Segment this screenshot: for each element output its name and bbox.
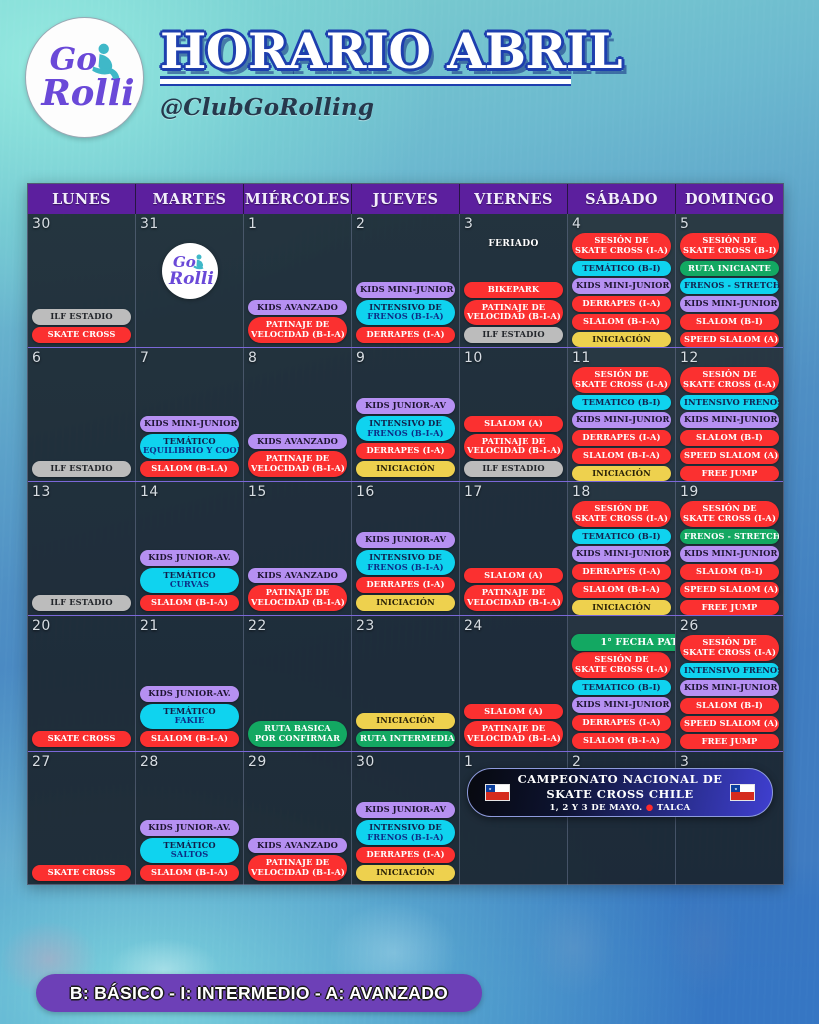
activity-pill[interactable]: PATINAJE DEVELOCIDAD (B-I-A) bbox=[248, 451, 347, 477]
activity-pill[interactable]: SLALOM (A) bbox=[464, 704, 563, 720]
activity-pill[interactable]: SLALOM (A) bbox=[464, 416, 563, 432]
activity-pill-line2: VELOCIDAD (B-I-A) bbox=[467, 446, 560, 456]
calendar-week-1: 30ILF ESTADIOSKATE CROSS31GoRolling1KIDS… bbox=[28, 214, 783, 348]
activity-pill-line2: VELOCIDAD (B-I-A) bbox=[251, 598, 344, 608]
activity-pill[interactable]: ILF ESTADIO bbox=[32, 309, 131, 325]
legend-text: B: BÁSICO - I: INTERMEDIO - A: AVANZADO bbox=[70, 983, 448, 1004]
calendar-week-3: 13ILF ESTADIO14KIDS JUNIOR-AV.TEMÁTICOCU… bbox=[28, 482, 783, 616]
activity-pill-line2: VELOCIDAD (B-I-A) bbox=[251, 868, 344, 878]
activity-pill-line2: POR CONFIRMAR bbox=[251, 734, 344, 744]
activity-pill[interactable]: ILF ESTADIO bbox=[32, 461, 131, 477]
activity-pill-line2: FAKIE bbox=[143, 716, 236, 726]
activity-pill[interactable]: KIDS JUNIOR-AV bbox=[356, 532, 455, 548]
location-pin-icon: ● bbox=[646, 803, 654, 813]
activity-pill[interactable]: RUTA INTERMEDIA bbox=[356, 731, 455, 747]
activity-pill[interactable]: INTENSIVO DEFRENOS (B-I-A) bbox=[356, 550, 455, 576]
chile-flag-icon-left bbox=[485, 784, 510, 801]
activity-pill[interactable]: DERRAPES (I-A) bbox=[572, 564, 671, 580]
activity-pill[interactable]: RUTA INICIANTE bbox=[680, 261, 779, 277]
day-activity-list: ILF ESTADIOSKATE CROSS bbox=[32, 309, 131, 343]
day-activity-list: BIKEPARKPATINAJE DEVELOCIDAD (B-I-A)ILF … bbox=[464, 282, 563, 343]
calendar-day-cell[interactable]: 11SESIÓN DESKATE CROSS (I-A)TEMATICO (B-… bbox=[568, 348, 676, 481]
day-number: 1 bbox=[248, 217, 257, 231]
activity-pill[interactable]: SLALOM (B-I-A) bbox=[572, 448, 671, 464]
championship-text: CAMPEONATO NACIONAL DE SKATE CROSS CHILE… bbox=[518, 772, 723, 812]
calendar-day-cell[interactable]: 29KIDS AVANZADOPATINAJE DEVELOCIDAD (B-I… bbox=[244, 752, 352, 885]
activity-pill[interactable]: SESIÓN DESKATE CROSS (I-A) bbox=[680, 501, 779, 527]
day-number: 26 bbox=[680, 619, 699, 633]
activity-pill[interactable]: SLALOM (B-I-A) bbox=[572, 733, 671, 749]
day-number: 18 bbox=[572, 485, 591, 499]
activity-pill[interactable]: KIDS MINI-JUNIOR bbox=[680, 296, 779, 312]
activity-pill[interactable]: KIDS MINI-JUNIOR bbox=[680, 680, 779, 696]
activity-pill[interactable]: KIDS MINI-JUNIOR bbox=[140, 416, 239, 432]
svg-text:Go: Go bbox=[173, 253, 196, 271]
activity-pill[interactable]: SESIÓN DESKATE CROSS (I-A) bbox=[572, 501, 671, 527]
activity-pill[interactable]: TEMÁTICOSALTOS bbox=[140, 838, 239, 864]
activity-pill-line2: VELOCIDAD (B-I-A) bbox=[467, 312, 560, 322]
activity-pill[interactable]: FRENOS - STRETCHING bbox=[680, 278, 779, 294]
day-number: 19 bbox=[680, 485, 699, 499]
activity-pill[interactable]: KIDS JUNIOR-AV bbox=[356, 802, 455, 818]
day-activity-list: SESIÓN DESKATE CROSS (I-A)TEMÁTICO (B-I)… bbox=[572, 233, 671, 347]
day-activity-list: SESIÓN DESKATE CROSS (I-A)FRENOS - STRET… bbox=[680, 501, 779, 615]
day-number: 8 bbox=[248, 351, 257, 365]
day-activity-list: INICIACIÓNRUTA INTERMEDIA bbox=[356, 713, 455, 747]
day-activity-list: SLALOM (A)PATINAJE DEVELOCIDAD (B-I-A)IL… bbox=[464, 416, 563, 477]
day-number: 2 bbox=[356, 217, 365, 231]
day-number: 3 bbox=[680, 755, 689, 769]
svg-text:Rolling: Rolling bbox=[168, 269, 215, 289]
day-number: 23 bbox=[356, 619, 375, 633]
activity-pill-line2: SKATE CROSS (B-I) bbox=[683, 246, 776, 256]
activity-pill[interactable]: ILF ESTADIO bbox=[32, 595, 131, 611]
day-header-1: LUNES bbox=[28, 184, 136, 214]
day-header-4: JUEVES bbox=[352, 184, 460, 214]
activity-pill[interactable]: SLALOM (B-I-A) bbox=[140, 865, 239, 881]
activity-pill[interactable]: DERRAPES (I-A) bbox=[356, 327, 455, 343]
activity-pill[interactable]: INICIACIÓN bbox=[356, 713, 455, 729]
activity-pill[interactable]: INTENSIVO DEFRENOS (B-I-A) bbox=[356, 416, 455, 442]
activity-pill[interactable]: SLALOM (B-I-A) bbox=[572, 314, 671, 330]
activity-pill[interactable]: INICIACIÓN bbox=[572, 332, 671, 347]
activity-pill[interactable]: INTENSIVO DEFRENOS (B-I-A) bbox=[356, 300, 455, 326]
activity-pill[interactable]: SPEED SLALOM (A) bbox=[680, 448, 779, 464]
activity-pill[interactable]: ILF ESTADIO bbox=[464, 327, 563, 343]
activity-pill-line2: SKATE CROSS (I-A) bbox=[575, 514, 668, 524]
activity-pill[interactable]: SESIÓN DESKATE CROSS (I-A) bbox=[572, 652, 671, 678]
day-activity-list: KIDS JUNIOR-AVINTENSIVO DEFRENOS (B-I-A)… bbox=[356, 398, 455, 477]
calendar-day-cell[interactable]: 251° FECHA PATIN CARRERASESIÓN DESKATE C… bbox=[568, 616, 676, 751]
activity-pill[interactable]: PATINAJE DEVELOCIDAD (B-I-A) bbox=[464, 434, 563, 460]
activity-pill-line2: SKATE CROSS (I-A) bbox=[683, 648, 776, 658]
activity-pill-line2: VELOCIDAD (B-I-A) bbox=[467, 734, 560, 744]
calendar-day-cell[interactable]: 5SESIÓN DESKATE CROSS (B-I)RUTA INICIANT… bbox=[676, 214, 783, 347]
day-activity-list: KIDS JUNIOR-AV.TEMÁTICOFAKIESLALOM (B-I-… bbox=[140, 686, 239, 747]
activity-pill[interactable]: DERRAPES (I-A) bbox=[572, 430, 671, 446]
calendar-day-cell[interactable]: 26SESIÓN DESKATE CROSS (I-A)INTENSIVO FR… bbox=[676, 616, 783, 751]
activity-pill[interactable]: PATINAJE DEVELOCIDAD (B-I-A) bbox=[248, 317, 347, 343]
activity-pill-line2: SKATE CROSS (I-A) bbox=[575, 246, 668, 256]
activity-pill[interactable]: TEMATICO (B-I) bbox=[572, 395, 671, 411]
activity-pill[interactable]: INTENSIVO FRENOS bbox=[680, 395, 779, 411]
title-block: HORARIO ABRIL @ClubGoRolling bbox=[160, 27, 622, 121]
activity-pill[interactable]: SLALOM (A) bbox=[464, 568, 563, 584]
day-number: 11 bbox=[572, 351, 591, 365]
activity-pill[interactable]: KIDS AVANZADO bbox=[248, 300, 347, 316]
day-number: 1 bbox=[464, 755, 473, 769]
activity-pill[interactable]: SPEED SLALOM (A) bbox=[680, 332, 779, 347]
activity-pill[interactable]: SESIÓN DESKATE CROSS (I-A) bbox=[572, 233, 671, 259]
championship-line1: CAMPEONATO NACIONAL DE bbox=[518, 772, 723, 786]
day-number: 29 bbox=[248, 755, 267, 769]
day-activity-list: RUTA BASICAPOR CONFIRMAR bbox=[248, 721, 347, 747]
activity-pill[interactable]: BIKEPARK bbox=[464, 282, 563, 298]
activity-pill[interactable]: SESIÓN DESKATE CROSS (I-A) bbox=[680, 367, 779, 393]
championship-dates: 1, 2 Y 3 DE MAYO. bbox=[549, 803, 642, 813]
activity-pill[interactable]: SESIÓN DESKATE CROSS (I-A) bbox=[680, 635, 779, 661]
go-rolling-logo-icon: Go Rolling bbox=[33, 26, 137, 130]
calendar-week-2: 6ILF ESTADIO7KIDS MINI-JUNIORTEMÁTICOEQU… bbox=[28, 348, 783, 482]
activity-pill[interactable]: FREE JUMP bbox=[680, 734, 779, 750]
activity-pill[interactable]: SLALOM (B-I-A) bbox=[140, 731, 239, 747]
holiday-note: FERIADO bbox=[464, 239, 563, 249]
day-number: 17 bbox=[464, 485, 483, 499]
day-activity-list: KIDS AVANZADOPATINAJE DEVELOCIDAD (B-I-A… bbox=[248, 838, 347, 881]
activity-pill[interactable]: SLALOM (B-I) bbox=[680, 430, 779, 446]
day-number: 21 bbox=[140, 619, 159, 633]
day-activity-list: SLALOM (A)PATINAJE DEVELOCIDAD (B-I-A) bbox=[464, 568, 563, 611]
activity-pill[interactable]: KIDS AVANZADO bbox=[248, 568, 347, 584]
day-number: 4 bbox=[572, 217, 581, 231]
go-rolling-logo: Go Rolling bbox=[25, 17, 144, 138]
social-handle: @ClubGoRolling bbox=[160, 94, 622, 121]
activity-pill[interactable]: SPEED SLALOM (A) bbox=[680, 582, 779, 598]
activity-pill[interactable]: SLALOM (B-I) bbox=[680, 564, 779, 580]
day-header-5: VIERNES bbox=[460, 184, 568, 214]
go-rolling-logo-icon: GoRolling bbox=[162, 243, 218, 299]
activity-pill[interactable]: PATINAJE DEVELOCIDAD (B-I-A) bbox=[464, 721, 563, 747]
activity-pill[interactable]: KIDS MINI-JUNIOR bbox=[572, 697, 671, 713]
activity-pill[interactable]: PATINAJE DEVELOCIDAD (B-I-A) bbox=[464, 585, 563, 611]
activity-pill-line2: SKATE CROSS (I-A) bbox=[575, 380, 668, 390]
activity-pill[interactable]: KIDS MINI-JUNIOR bbox=[680, 412, 779, 428]
activity-pill-line2: FRENOS (B-I-A) bbox=[359, 312, 452, 322]
activity-pill-line2: FRENOS (B-I-A) bbox=[359, 563, 452, 573]
day-activity-list: KIDS JUNIOR-AV.TEMÁTICOSALTOSSLALOM (B-I… bbox=[140, 820, 239, 881]
activity-pill[interactable]: DERRAPES (I-A) bbox=[572, 296, 671, 312]
calendar-day-cell[interactable]: 2KIDS MINI-JUNIORINTENSIVO DEFRENOS (B-I… bbox=[352, 214, 460, 347]
day-number: 30 bbox=[32, 217, 51, 231]
activity-pill[interactable]: SESIÓN DESKATE CROSS (B-I) bbox=[680, 233, 779, 259]
day-activity-list: SESIÓN DESKATE CROSS (I-A)INTENSIVO FREN… bbox=[680, 367, 779, 481]
activity-pill-line2: EQUILIBRIO Y COORD. bbox=[143, 446, 236, 456]
day-banner-event[interactable]: 1° FECHA PATIN CARRERA bbox=[571, 634, 676, 651]
activity-pill[interactable]: TEMATICO (B-I) bbox=[572, 529, 671, 545]
activity-pill[interactable]: KIDS AVANZADO bbox=[248, 838, 347, 854]
day-activity-list: SESIÓN DESKATE CROSS (B-I)RUTA INICIANTE… bbox=[680, 233, 779, 347]
activity-pill[interactable]: SLALOM (B-I) bbox=[680, 314, 779, 330]
activity-pill[interactable]: SKATE CROSS bbox=[32, 731, 131, 747]
calendar-day-cell[interactable]: 24SLALOM (A)PATINAJE DEVELOCIDAD (B-I-A) bbox=[460, 616, 568, 751]
activity-pill[interactable]: SESIÓN DESKATE CROSS (I-A) bbox=[572, 367, 671, 393]
activity-pill[interactable]: FRENOS - STRETCHING bbox=[680, 529, 779, 545]
activity-pill[interactable]: KIDS MINI-JUNIOR bbox=[680, 546, 779, 562]
day-activity-list: KIDS JUNIOR-AVINTENSIVO DEFRENOS (B-I-A)… bbox=[356, 532, 455, 611]
calendar-day-cell[interactable]: 16KIDS JUNIOR-AVINTENSIVO DEFRENOS (B-I-… bbox=[352, 482, 460, 615]
day-number: 5 bbox=[680, 217, 689, 231]
day-of-week-header-row: LUNESMARTESMIÉRCOLESJUEVESVIERNESSÁBADOD… bbox=[28, 184, 783, 214]
day-activity-list: SKATE CROSS bbox=[32, 731, 131, 747]
activity-pill[interactable]: TEMÁTICOEQUILIBRIO Y COORD. bbox=[140, 434, 239, 460]
calendar-day-cell[interactable]: 1KIDS AVANZADOPATINAJE DEVELOCIDAD (B-I-… bbox=[244, 214, 352, 347]
activity-pill[interactable]: KIDS JUNIOR-AV. bbox=[140, 686, 239, 702]
activity-pill[interactable]: TEMÁTICOFAKIE bbox=[140, 704, 239, 730]
day-header-6: SÁBADO bbox=[568, 184, 676, 214]
activity-pill[interactable]: TEMATICO (B-I) bbox=[572, 680, 671, 696]
activity-pill[interactable]: PATINAJE DEVELOCIDAD (B-I-A) bbox=[248, 855, 347, 881]
activity-pill[interactable]: KIDS MINI-JUNIOR bbox=[572, 546, 671, 562]
day-number: 30 bbox=[356, 755, 375, 769]
day-number: 12 bbox=[680, 351, 699, 365]
activity-pill-line2: SKATE CROSS (I-A) bbox=[683, 380, 776, 390]
day-activity-list: SESIÓN DESKATE CROSS (I-A)TEMATICO (B-I)… bbox=[572, 501, 671, 615]
activity-pill-line2: CURVAS bbox=[143, 580, 236, 590]
activity-pill[interactable]: SLALOM (B-I.A) bbox=[140, 461, 239, 477]
day-activity-list: KIDS JUNIOR-AVINTENSIVO DEFRENOS (B-I-A)… bbox=[356, 802, 455, 881]
activity-pill-line2: VELOCIDAD (B-I-A) bbox=[467, 598, 560, 608]
activity-pill[interactable]: SKATE CROSS bbox=[32, 327, 131, 343]
day-activity-list: SESIÓN DESKATE CROSS (I-A)INTENSIVO FREN… bbox=[680, 635, 779, 749]
activity-pill[interactable]: PATINAJE DEVELOCIDAD (B-I-A) bbox=[248, 585, 347, 611]
activity-pill[interactable]: TEMÁTICO (B-I) bbox=[572, 261, 671, 277]
activity-pill-line2: SKATE CROSS (I-A) bbox=[683, 514, 776, 524]
activity-pill[interactable]: SLALOM (B-I-A) bbox=[572, 582, 671, 598]
day-activity-list: KIDS AVANZADOPATINAJE DEVELOCIDAD (B-I-A… bbox=[248, 568, 347, 611]
page-title: HORARIO ABRIL bbox=[160, 27, 622, 76]
activity-pill[interactable]: KIDS MINI-JUNIOR bbox=[356, 282, 455, 298]
activity-pill-line2: VELOCIDAD (B-I-A) bbox=[251, 330, 344, 340]
day-number: 20 bbox=[32, 619, 51, 633]
calendar-week-4: 20SKATE CROSS21KIDS JUNIOR-AV.TEMÁTICOFA… bbox=[28, 616, 783, 752]
day-activity-list: KIDS JUNIOR-AV.TEMÁTICOCURVASSLALOM (B-I… bbox=[140, 550, 239, 611]
day-number: 3 bbox=[464, 217, 473, 231]
calendar-day-cell[interactable]: 18SESIÓN DESKATE CROSS (I-A)TEMATICO (B-… bbox=[568, 482, 676, 615]
activity-pill[interactable]: KIDS JUNIOR-AV. bbox=[140, 550, 239, 566]
day-number: 27 bbox=[32, 755, 51, 769]
activity-pill-line2: SALTOS bbox=[143, 850, 236, 860]
day-activity-list: SKATE CROSS bbox=[32, 865, 131, 881]
day-number: 13 bbox=[32, 485, 51, 499]
calendar-day-cell[interactable]: 7KIDS MINI-JUNIORTEMÁTICOEQUILIBRIO Y CO… bbox=[136, 348, 244, 481]
svg-text:Rolling: Rolling bbox=[40, 73, 137, 114]
activity-pill[interactable]: FREE JUMP bbox=[680, 600, 779, 615]
activity-pill[interactable]: TEMÁTICOCURVAS bbox=[140, 568, 239, 594]
page-header: Go Rolling HORARIO ABRIL @ClubGoRolling bbox=[0, 0, 819, 150]
day-number: 15 bbox=[248, 485, 267, 499]
activity-pill[interactable]: INICIACIÓN bbox=[356, 595, 455, 611]
activity-pill[interactable]: PATINAJE DEVELOCIDAD (B-I-A) bbox=[464, 300, 563, 326]
activity-pill[interactable]: FREE JUMP bbox=[680, 466, 779, 481]
activity-pill[interactable]: DERRAPES (I-A) bbox=[356, 443, 455, 459]
championship-details: 1, 2 Y 3 DE MAYO. ● TALCA bbox=[518, 803, 723, 813]
activity-pill[interactable]: DERRAPES (I-A) bbox=[356, 847, 455, 863]
day-number: 22 bbox=[248, 619, 267, 633]
calendar-day-cell[interactable]: 28KIDS JUNIOR-AV.TEMÁTICOSALTOSSLALOM (B… bbox=[136, 752, 244, 885]
day-number: 6 bbox=[32, 351, 41, 365]
day-activity-list: KIDS MINI-JUNIORINTENSIVO DEFRENOS (B-I-… bbox=[356, 282, 455, 343]
activity-pill[interactable]: SKATE CROSS bbox=[32, 865, 131, 881]
activity-pill-line2: FRENOS (B-I-A) bbox=[359, 429, 452, 439]
chile-flag-icon-right bbox=[730, 784, 755, 801]
day-number: 28 bbox=[140, 755, 159, 769]
day-header-2: MARTES bbox=[136, 184, 244, 214]
calendar-day-cell[interactable]: 30ILF ESTADIOSKATE CROSS bbox=[28, 214, 136, 347]
day-header-7: DOMINGO bbox=[676, 184, 783, 214]
calendar-day-cell[interactable]: 14KIDS JUNIOR-AV.TEMÁTICOCURVASSLALOM (B… bbox=[136, 482, 244, 615]
day-number: 24 bbox=[464, 619, 483, 633]
calendar-day-cell[interactable]: 3FERIADOBIKEPARKPATINAJE DEVELOCIDAD (B-… bbox=[460, 214, 568, 347]
calendar-day-cell[interactable]: 21KIDS JUNIOR-AV.TEMÁTICOFAKIESLALOM (B-… bbox=[136, 616, 244, 751]
calendar-day-cell[interactable]: 31GoRolling bbox=[136, 214, 244, 347]
activity-pill[interactable]: SPEED SLALOM (A) bbox=[680, 716, 779, 732]
activity-pill[interactable]: DERRAPES (I-A) bbox=[356, 577, 455, 593]
day-number: 7 bbox=[140, 351, 149, 365]
day-activity-list: SESIÓN DESKATE CROSS (I-A)TEMATICO (B-I)… bbox=[572, 367, 671, 481]
day-number: 14 bbox=[140, 485, 159, 499]
championship-line2: SKATE CROSS CHILE bbox=[518, 787, 723, 801]
activity-pill[interactable]: KIDS JUNIOR-AV bbox=[356, 398, 455, 414]
activity-pill[interactable]: INICIACIÓN bbox=[572, 466, 671, 481]
activity-pill[interactable]: INTENSIVO DEFRENOS (B-I-A) bbox=[356, 820, 455, 846]
calendar-day-cell[interactable]: 8KIDS AVANZADOPATINAJE DEVELOCIDAD (B-I-… bbox=[244, 348, 352, 481]
activity-pill[interactable]: INICIACIÓN bbox=[356, 865, 455, 881]
activity-pill[interactable]: INICIACIÓN bbox=[356, 461, 455, 477]
calendar-day-cell[interactable]: 17SLALOM (A)PATINAJE DEVELOCIDAD (B-I-A) bbox=[460, 482, 568, 615]
level-legend: B: BÁSICO - I: INTERMEDIO - A: AVANZADO bbox=[36, 974, 482, 1012]
calendar-day-cell[interactable]: 10SLALOM (A)PATINAJE DEVELOCIDAD (B-I-A)… bbox=[460, 348, 568, 481]
day-number: 16 bbox=[356, 485, 375, 499]
activity-pill[interactable]: KIDS AVANZADO bbox=[248, 434, 347, 450]
day-activity-list: KIDS AVANZADOPATINAJE DEVELOCIDAD (B-I-A… bbox=[248, 300, 347, 343]
calendar-day-cell[interactable]: 13ILF ESTADIO bbox=[28, 482, 136, 615]
activity-pill[interactable]: SLALOM (B-I-A) bbox=[140, 595, 239, 611]
calendar-day-cell[interactable]: 4SESIÓN DESKATE CROSS (I-A)TEMÁTICO (B-I… bbox=[568, 214, 676, 347]
day-activity-list: KIDS MINI-JUNIORTEMÁTICOEQUILIBRIO Y COO… bbox=[140, 416, 239, 477]
activity-pill-line2: VELOCIDAD (B-I-A) bbox=[251, 464, 344, 474]
activity-pill[interactable]: ILF ESTADIO bbox=[464, 461, 563, 477]
calendar-day-cell[interactable]: 9KIDS JUNIOR-AVINTENSIVO DEFRENOS (B-I-A… bbox=[352, 348, 460, 481]
calendar-day-cell[interactable]: 27SKATE CROSS bbox=[28, 752, 136, 885]
activity-pill-line2: FRENOS (B-I-A) bbox=[359, 833, 452, 843]
activity-pill[interactable]: SLALOM (B-I) bbox=[680, 698, 779, 714]
calendar-day-cell[interactable]: 15KIDS AVANZADOPATINAJE DEVELOCIDAD (B-I… bbox=[244, 482, 352, 615]
calendar-day-cell[interactable]: 6ILF ESTADIO bbox=[28, 348, 136, 481]
day-number: 2 bbox=[572, 755, 581, 769]
championship-location: TALCA bbox=[657, 803, 691, 813]
activity-pill[interactable]: INICIACIÓN bbox=[572, 600, 671, 615]
calendar-day-cell[interactable]: 20SKATE CROSS bbox=[28, 616, 136, 751]
calendar-day-cell[interactable]: 23INICIACIÓNRUTA INTERMEDIA bbox=[352, 616, 460, 751]
day-activity-list: SESIÓN DESKATE CROSS (I-A)TEMATICO (B-I)… bbox=[572, 652, 671, 751]
day-activity-list: ILF ESTADIO bbox=[32, 461, 131, 477]
activity-pill[interactable]: DERRAPES (I-A) bbox=[572, 715, 671, 731]
day-activity-list: SLALOM (A)PATINAJE DEVELOCIDAD (B-I-A) bbox=[464, 704, 563, 747]
day-header-3: MIÉRCOLES bbox=[244, 184, 352, 214]
activity-pill[interactable]: RUTA BASICAPOR CONFIRMAR bbox=[248, 721, 347, 747]
calendar-day-cell[interactable]: 12SESIÓN DESKATE CROSS (I-A)INTENSIVO FR… bbox=[676, 348, 783, 481]
activity-pill[interactable]: KIDS MINI-JUNIOR bbox=[572, 278, 671, 294]
calendar-day-cell[interactable]: 22RUTA BASICAPOR CONFIRMAR bbox=[244, 616, 352, 751]
day-number: 31 bbox=[140, 217, 159, 231]
calendar-day-cell[interactable]: 30KIDS JUNIOR-AVINTENSIVO DEFRENOS (B-I-… bbox=[352, 752, 460, 885]
activity-pill[interactable]: KIDS MINI-JUNIOR bbox=[572, 412, 671, 428]
day-activity-list: ILF ESTADIO bbox=[32, 595, 131, 611]
day-number: 9 bbox=[356, 351, 365, 365]
activity-pill[interactable]: KIDS JUNIOR-AV. bbox=[140, 820, 239, 836]
activity-pill[interactable]: INTENSIVO FRENOS bbox=[680, 663, 779, 679]
day-number: 10 bbox=[464, 351, 483, 365]
calendar-day-cell[interactable]: 19SESIÓN DESKATE CROSS (I-A)FRENOS - STR… bbox=[676, 482, 783, 615]
championship-banner[interactable]: CAMPEONATO NACIONAL DE SKATE CROSS CHILE… bbox=[467, 768, 773, 817]
activity-pill-line2: SKATE CROSS (I-A) bbox=[575, 665, 668, 675]
day-activity-list: KIDS AVANZADOPATINAJE DEVELOCIDAD (B-I-A… bbox=[248, 434, 347, 477]
